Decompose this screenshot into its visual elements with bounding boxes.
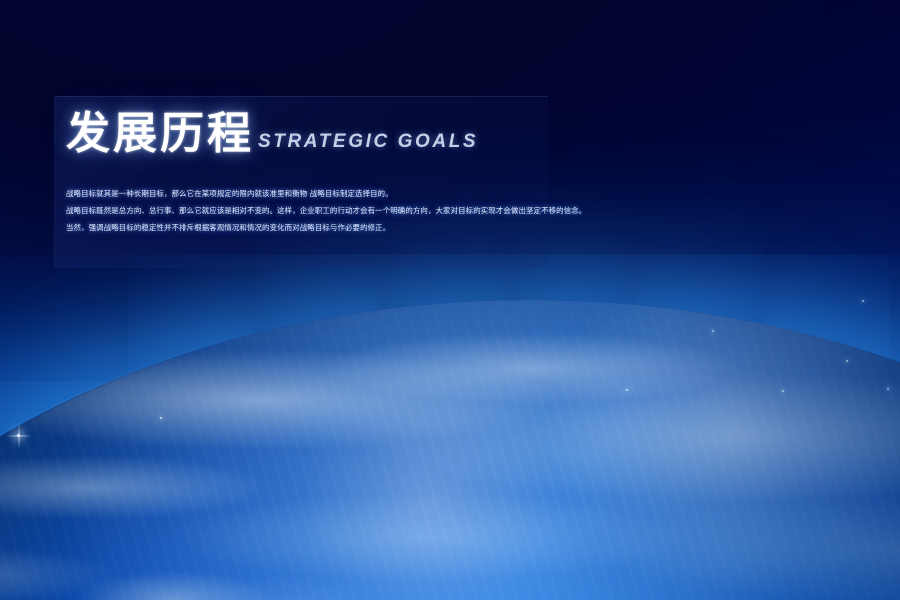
- star-upper-left-icon: [160, 417, 162, 419]
- earth-cloud-swirl: [0, 300, 900, 600]
- body-line: 战略目标就其是一种长期目标，那么它在某项规定的限内就该准里和衡物 战略目标制定选…: [66, 185, 536, 202]
- earth-cloud-layer: [0, 300, 900, 600]
- starfield: [0, 0, 900, 600]
- page-title: 发展历程: [66, 112, 254, 156]
- star-upper-right-icon: [862, 300, 864, 302]
- earth-limb-rim: [0, 300, 900, 600]
- earth-surface: [0, 300, 900, 600]
- star-bright-left-icon: [17, 434, 20, 437]
- body-copy: 战略目标就其是一种长期目标，那么它在某项规定的限内就该准里和衡物 战略目标制定选…: [66, 185, 536, 236]
- star-mid-right-b-icon: [782, 390, 784, 392]
- earth-terminator-shadow: [0, 300, 900, 600]
- star-far-right-icon: [887, 388, 889, 390]
- star-mid-right-a-icon: [626, 389, 628, 391]
- star-mid-right-c-icon: [846, 360, 848, 362]
- body-line: 当然，强调战略目标的稳定性并不排斥根据客观情况和情况的变化而对战略目标与作必要的…: [66, 219, 536, 236]
- banner-scene: 发展历程 STRATEGIC GOALS 战略目标就其是一种长期目标，那么它在某…: [0, 0, 900, 600]
- earth-globe: [0, 300, 900, 600]
- page-subtitle: STRATEGIC GOALS: [258, 131, 478, 156]
- earth-atmosphere-glow: [0, 230, 900, 600]
- star-high-right-icon: [712, 330, 714, 332]
- body-line: 战略目标既然是总方向、总行事、那么它就应该是相对不变的。这样，企业职工的行动才会…: [66, 202, 536, 219]
- headline-group: 发展历程 STRATEGIC GOALS: [66, 112, 478, 156]
